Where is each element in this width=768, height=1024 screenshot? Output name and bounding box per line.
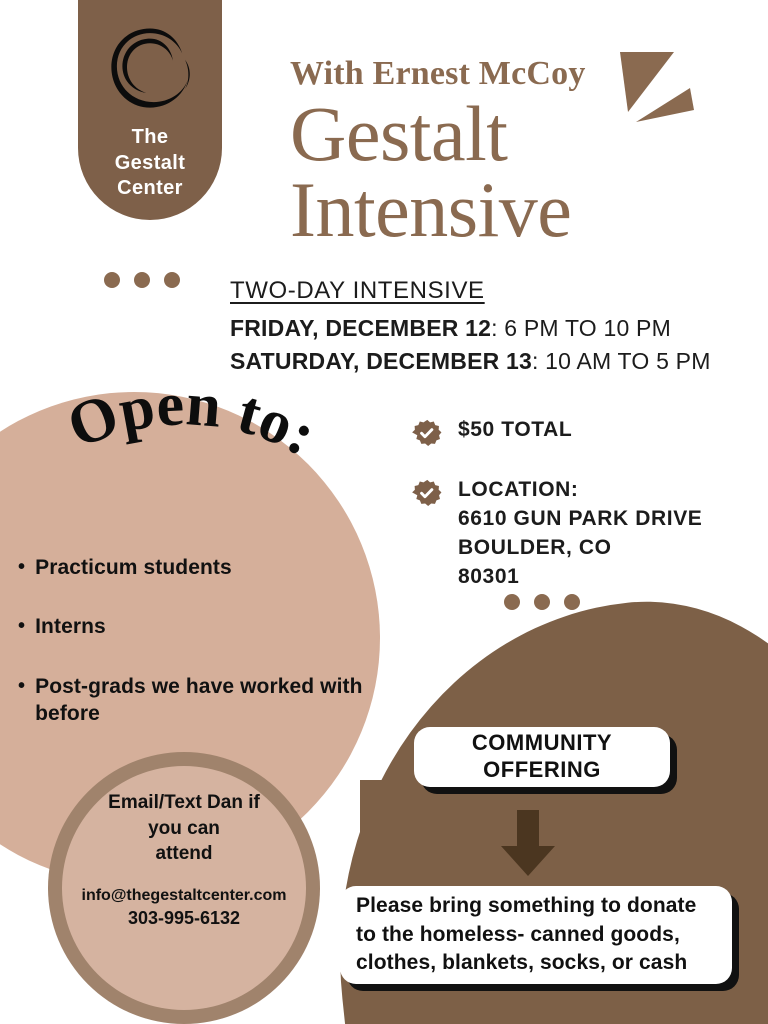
schedule-row: FRIDAY, DECEMBER 12: 6 PM TO 10 PM	[230, 312, 750, 345]
donation-line-3: clothes, blankets, socks, or cash	[356, 949, 696, 978]
community-line-1: COMMUNITY	[472, 730, 612, 757]
dot	[134, 272, 150, 288]
title-line-1: Gestalt	[290, 96, 730, 172]
schedule-day: SATURDAY, DECEMBER 13	[230, 348, 532, 374]
location-text: LOCATION: 6610 GUN PARK DRIVE BOULDER, C…	[458, 476, 702, 592]
logo-line-3: Center	[115, 176, 186, 202]
bullet-dot-icon: •	[18, 673, 25, 699]
logo-line-2: Gestalt	[115, 151, 186, 177]
arrow-down-icon	[497, 810, 559, 878]
location-label: LOCATION:	[458, 476, 702, 505]
contact-email[interactable]: info@thegestaltcenter.com	[62, 887, 306, 905]
check-badge-icon	[412, 418, 442, 448]
schedule-row: SATURDAY, DECEMBER 13: 10 AM TO 5 PM	[230, 345, 750, 378]
list-item-label: Interns	[35, 613, 106, 640]
bullet-dot-icon: •	[18, 613, 25, 639]
contact-phone[interactable]: 303-995-6132	[62, 908, 306, 929]
contact-cta: Email/Text Dan if you can attend	[62, 790, 306, 867]
location-item: LOCATION: 6610 GUN PARK DRIVE BOULDER, C…	[412, 476, 742, 592]
schedule-time: : 10 AM TO 5 PM	[532, 348, 711, 374]
community-offering-text: COMMUNITY OFFERING	[472, 730, 612, 784]
title-line-2: Intensive	[290, 172, 730, 248]
list-item: • Post-grads we have worked with before	[18, 673, 370, 728]
flyer-poster: The Gestalt Center With Ernest McCoy Ges…	[0, 0, 768, 1024]
dot	[104, 272, 120, 288]
donation-line-1: Please bring something to donate	[356, 892, 696, 921]
donation-line-2: to the homeless- canned goods,	[356, 921, 696, 950]
presenter-line: With Ernest McCoy	[290, 55, 586, 93]
contact-cta-line-3: attend	[62, 841, 306, 867]
list-item-label: Post-grads we have worked with before	[35, 673, 370, 728]
open-to-label: Open to:	[59, 392, 328, 469]
price-text: $50 TOTAL	[458, 416, 572, 445]
check-badge-icon	[412, 478, 442, 508]
open-to-heading: Open to:	[10, 392, 390, 562]
location-line-1: 6610 GUN PARK DRIVE	[458, 505, 702, 534]
location-line-3: 80301	[458, 563, 702, 592]
dots-decor-top	[104, 272, 180, 288]
community-offering-badge: COMMUNITY OFFERING	[414, 727, 670, 787]
contact-cta-line-2: you can	[62, 816, 306, 842]
page-title: Gestalt Intensive	[290, 96, 730, 249]
donation-note-text: Please bring something to donate to the …	[356, 892, 696, 979]
dot	[164, 272, 180, 288]
enso-circle-icon	[104, 23, 196, 115]
schedule-day: FRIDAY, DECEMBER 12	[230, 315, 491, 341]
schedule-heading: TWO-DAY INTENSIVE	[230, 277, 750, 305]
location-line-2: BOULDER, CO	[458, 534, 702, 563]
logo-line-1: The	[115, 125, 186, 151]
list-item: • Practicum students	[18, 554, 370, 581]
logo-text: The Gestalt Center	[115, 125, 186, 202]
list-item-label: Practicum students	[35, 554, 232, 581]
open-to-text: Open to:	[59, 392, 328, 469]
bullet-dot-icon: •	[18, 554, 25, 580]
community-line-2: OFFERING	[472, 757, 612, 784]
donation-note-box: Please bring something to donate to the …	[340, 886, 732, 984]
schedule-block: TWO-DAY INTENSIVE FRIDAY, DECEMBER 12: 6…	[230, 277, 750, 377]
info-list: $50 TOTAL LOCATION: 6610 GUN PARK DRIVE …	[412, 416, 742, 620]
logo-badge: The Gestalt Center	[78, 0, 222, 220]
list-item: • Interns	[18, 613, 370, 640]
price-item: $50 TOTAL	[412, 416, 742, 448]
schedule-time: : 6 PM TO 10 PM	[491, 315, 671, 341]
contact-block: Email/Text Dan if you can attend info@th…	[62, 790, 306, 929]
contact-cta-line-1: Email/Text Dan if	[62, 790, 306, 816]
open-to-bullets: • Practicum students • Interns • Post-gr…	[18, 554, 370, 759]
